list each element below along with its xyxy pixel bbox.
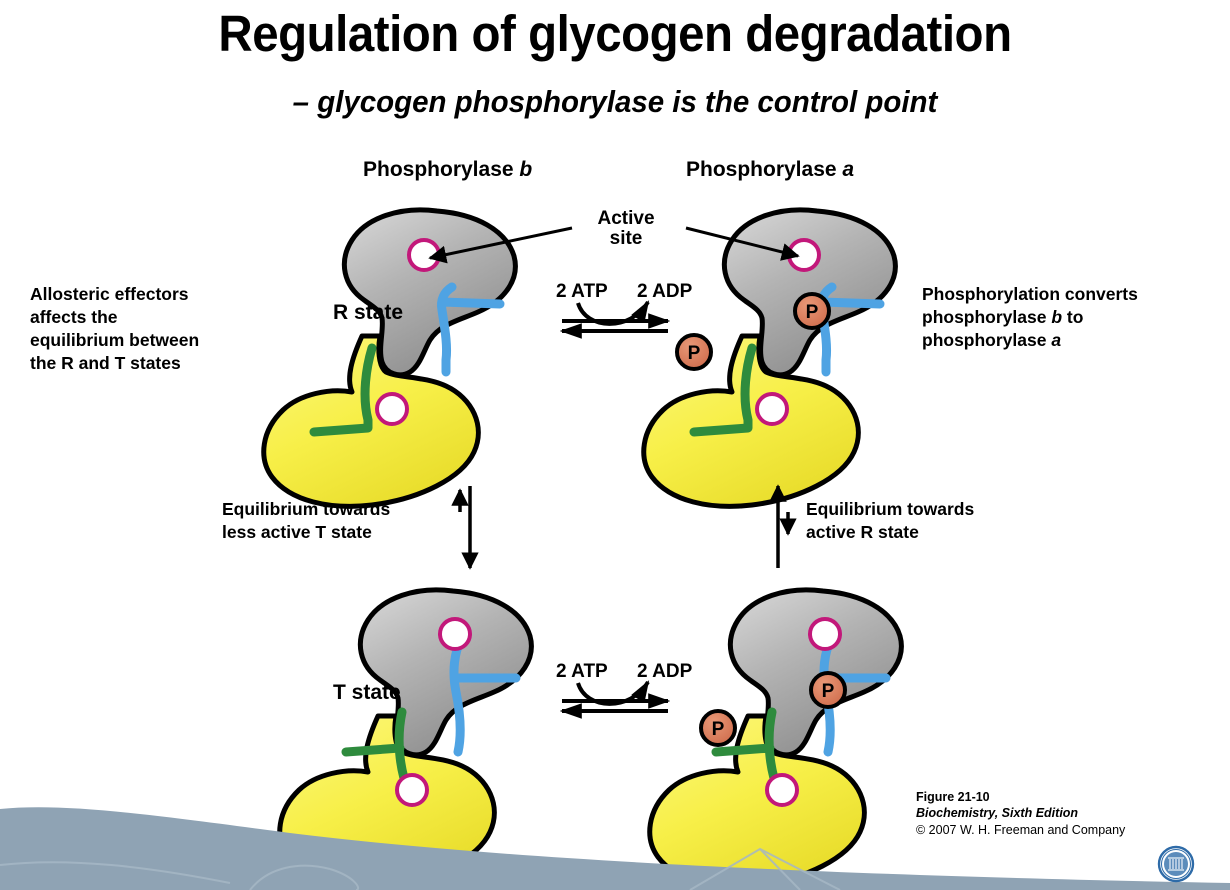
annotation-allosteric-effectors: Allosteric effectors affects the equilib… — [30, 283, 260, 375]
active-site-callout: Active site — [578, 209, 674, 249]
active-site-upper — [409, 240, 439, 270]
university-seal-logo — [1157, 845, 1195, 883]
label-atp-bottom: 2 ATP — [556, 661, 608, 683]
blue-tail — [821, 287, 880, 372]
annotation-eq-right-line2: active R state — [806, 521, 1046, 544]
annotation-left-line2: affects the — [30, 306, 260, 329]
molecule-phosphorylase-b-r-state — [264, 210, 572, 506]
phospho-badge-upper-label: P — [806, 302, 819, 323]
label-atp-top: 2 ATP — [556, 281, 608, 303]
annotation-eq-right-line1: Equilibrium towards — [806, 498, 1046, 521]
annotation-eq-left-line1: Equilibrium towards — [222, 498, 452, 521]
molecule-phosphorylase-a-r-state: P P — [644, 210, 896, 506]
annotation-right-line3-italic: a — [1051, 330, 1061, 350]
phospho-badge-lower: P — [701, 711, 735, 745]
active-site-upper — [440, 619, 470, 649]
annotation-right-line2-post: to — [1062, 307, 1083, 327]
slide-canvas: Regulation of glycogen degradation – gly… — [0, 0, 1230, 890]
vertical-equilibrium-left — [460, 486, 470, 568]
phospho-badge-lower-label: P — [712, 719, 725, 740]
phospho-badge-upper: P — [795, 294, 829, 328]
label-adp-top: 2 ADP — [637, 281, 692, 303]
phospho-badge-lower: P — [677, 335, 711, 369]
annotation-equilibrium-t-state: Equilibrium towards less active T state — [222, 498, 452, 544]
label-r-state: R state — [333, 301, 403, 325]
label-t-state: T state — [333, 681, 401, 705]
annotation-right-line3: phosphorylase a — [922, 329, 1190, 352]
annotation-right-line2-italic: b — [1051, 307, 1062, 327]
blue-tail — [441, 287, 500, 372]
decorative-swoosh — [0, 795, 1230, 890]
swoosh-shape — [0, 807, 1230, 890]
annotation-eq-left-line2: less active T state — [222, 521, 452, 544]
reaction-arrows-top — [562, 302, 668, 331]
annotation-right-line2-pre: phosphorylase — [922, 307, 1051, 327]
phospho-badge-upper-label: P — [822, 681, 835, 702]
annotation-equilibrium-r-state: Equilibrium towards active R state — [806, 498, 1046, 544]
annotation-left-line3: equilibrium between — [30, 329, 260, 352]
annotation-left-line1: Allosteric effectors — [30, 283, 260, 306]
annotation-right-line1: Phosphorylation converts — [922, 283, 1190, 306]
active-site-line2: site — [578, 229, 674, 249]
active-site-line1: Active — [578, 209, 674, 229]
annotation-right-line3-pre: phosphorylase — [922, 330, 1051, 350]
annotation-right-line2: phosphorylase b to — [922, 306, 1190, 329]
active-site-lower — [757, 394, 787, 424]
phospho-badge-lower-label: P — [688, 343, 701, 364]
annotation-phosphorylation-converts: Phosphorylation converts phosphorylase b… — [922, 283, 1190, 352]
phosphorylase-diagram: P P — [0, 0, 1230, 890]
active-site-lower — [377, 394, 407, 424]
phospho-badge-upper: P — [811, 673, 845, 707]
annotation-left-line4: the R and T states — [30, 352, 260, 375]
active-site-upper — [810, 619, 840, 649]
label-adp-bottom: 2 ADP — [637, 661, 692, 683]
reaction-arrows-bottom — [562, 682, 668, 711]
